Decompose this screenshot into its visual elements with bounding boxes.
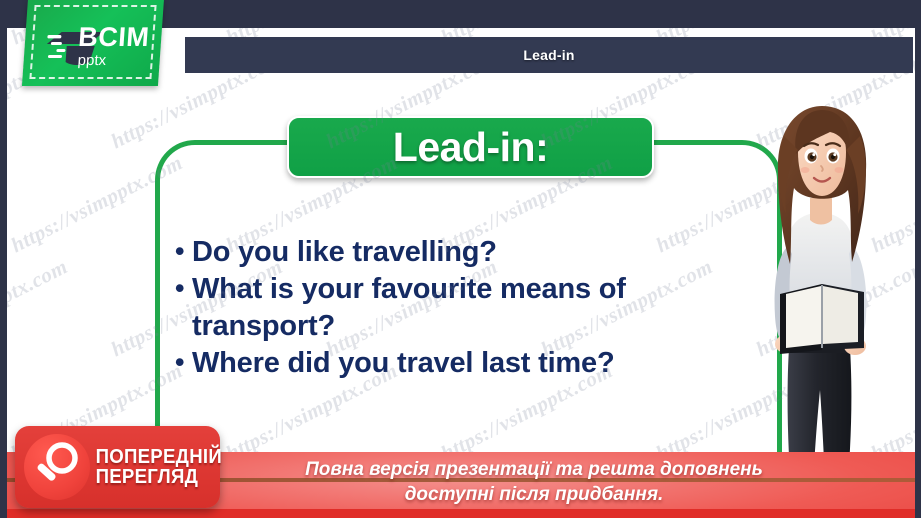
banner-text-line1: Повна версія презентації та решта доповн… bbox=[167, 458, 901, 483]
bullet-marker-icon: • bbox=[175, 345, 192, 380]
slide-header-title: Lead-in bbox=[523, 47, 574, 63]
list-item: • What is your favourite means of transp… bbox=[175, 271, 735, 345]
bullet-text: What is your favourite means of transpor… bbox=[192, 271, 735, 345]
bullet-text: Where did you travel last time? bbox=[192, 345, 735, 382]
banner-text: Повна версія презентації та решта доповн… bbox=[167, 458, 901, 507]
logo-sub-text: pptx bbox=[77, 53, 148, 68]
logo-brand-text: BCIM bbox=[77, 24, 150, 51]
preview-badge[interactable]: ПОПЕРЕДНІЙ ПЕРЕГЛЯД bbox=[15, 426, 220, 508]
bullet-list: • Do you like travelling? • What is your… bbox=[175, 234, 735, 382]
lead-in-title-chip: Lead-in: bbox=[287, 116, 654, 178]
slide-page: Lead-in: • Do you like travelling? • Wha… bbox=[7, 28, 915, 518]
watermark-text: https://vsimpptx.com bbox=[7, 254, 72, 362]
bcim-pptx-logo: BCIM pptx bbox=[22, 0, 164, 86]
slide-root: Lead-in: • Do you like travelling? • Wha… bbox=[0, 0, 921, 518]
list-item: • Where did you travel last time? bbox=[175, 345, 735, 382]
banner-text-line2: доступні після придбання. bbox=[167, 483, 901, 508]
bullet-marker-icon: • bbox=[175, 271, 192, 306]
bullet-marker-icon: • bbox=[175, 234, 192, 269]
preview-badge-label: ПОПЕРЕДНІЙ ПЕРЕГЛЯД bbox=[90, 447, 222, 488]
bullet-text: Do you like travelling? bbox=[192, 234, 735, 271]
lead-in-title-text: Lead-in: bbox=[393, 124, 548, 171]
magnifier-icon bbox=[24, 434, 90, 500]
logo-text: BCIM pptx bbox=[76, 24, 150, 68]
slide-header-bar: Lead-in bbox=[185, 37, 913, 73]
preview-badge-line2: ПЕРЕГЛЯД bbox=[96, 467, 222, 487]
list-item: • Do you like travelling? bbox=[175, 234, 735, 271]
preview-badge-line1: ПОПЕРЕДНІЙ bbox=[96, 447, 222, 467]
